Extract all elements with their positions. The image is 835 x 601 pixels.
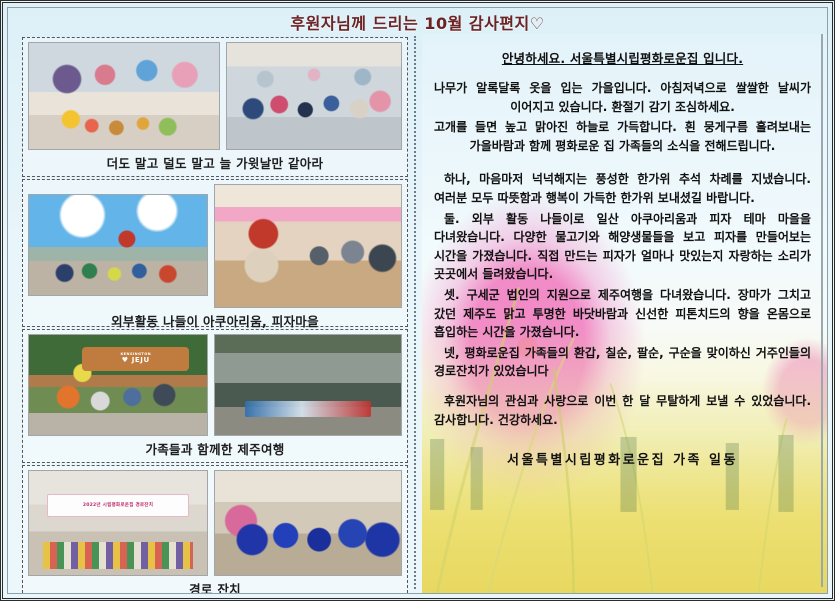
photo-row: 2022년 시립평화로운집 경로잔치 bbox=[28, 470, 402, 576]
photo-gyeongno-stage: 2022년 시립평화로운집 경로잔치 bbox=[28, 470, 208, 576]
photo-chuseok-group bbox=[226, 42, 402, 150]
body-columns: 더도 말고 덜도 말고 늘 가윗날만 같아라 외부활동 나들이 아쿠아리움, 피… bbox=[8, 34, 827, 593]
photo-caption: 더도 말고 덜도 말고 늘 가윗날만 같아라 bbox=[28, 150, 402, 174]
column-divider bbox=[414, 36, 416, 589]
photo-kensington-jeju: KENSINGTON ♥ JEJU bbox=[28, 334, 208, 436]
photo-jeju-waterfall bbox=[214, 334, 402, 436]
letter-item-2: 둘. 외부 활동 나들이로 일산 아쿠아리움과 피자 테마 마을을 다녀왔습니다… bbox=[434, 210, 811, 284]
page-inner-frame: 후원자님께 드리는 10월 감사편지♡ 더도 말고 덜도 말고 늘 가윗날만 같… bbox=[7, 7, 828, 594]
photo-gyeongno-audience bbox=[214, 470, 402, 576]
photo-image bbox=[29, 43, 219, 149]
letter-item-3: 셋. 구세군 법인의 지원으로 제주여행을 다녀왔습니다. 장마가 그치고 갔던… bbox=[434, 286, 811, 342]
letter-closing: 후원자님의 관심과 사랑으로 이번 한 달 무탈하게 보낼 수 있었습니다. 감… bbox=[434, 392, 811, 429]
letter-intro-1: 나무가 알록달록 옷을 입는 가을입니다. 아침저녁으로 쌀쌀한 날씨가 이어지… bbox=[434, 79, 811, 116]
photo-aquarium-group bbox=[28, 194, 208, 296]
letter-column: 안녕하세요. 서울특별시립평화로운집 입니다. 나무가 알록달록 옷을 입는 가… bbox=[422, 34, 827, 593]
photo-panel-outing: 외부활동 나들이 아쿠아리움, 피자마을 bbox=[22, 179, 408, 327]
letter-signature: 서울특별시립평화로운집 가족 일동 bbox=[434, 449, 811, 468]
sign-line-2: ♥ JEJU bbox=[122, 357, 150, 364]
page-title: 후원자님께 드리는 10월 감사편지♡ bbox=[290, 10, 544, 34]
photo-image bbox=[215, 471, 401, 575]
spacer bbox=[434, 157, 811, 170]
photo-sign-kensington: KENSINGTON ♥ JEJU bbox=[82, 347, 189, 371]
photo-column: 더도 말고 덜도 말고 늘 가윗날만 같아라 외부활동 나들이 아쿠아리움, 피… bbox=[8, 34, 414, 593]
photo-image bbox=[215, 335, 401, 435]
photo-caption: 경로 잔치 bbox=[28, 576, 402, 594]
letter-item-1: 하나, 마음마저 넉넉해지는 풍성한 한가위 추석 차례를 지냈습니다. 여러분… bbox=[434, 170, 811, 207]
photo-banner-text: 2022년 시립평화로운집 경로잔치 bbox=[47, 494, 189, 517]
letter-item-4: 넷, 평화로운집 가족들의 환갑, 칠순, 팔순, 구순을 맞이하신 거주인들의… bbox=[434, 344, 811, 381]
letter-text-body: 안녕하세요. 서울특별시립평화로운집 입니다. 나무가 알록달록 옷을 입는 가… bbox=[422, 34, 827, 593]
photo-panel-jeju: KENSINGTON ♥ JEJU 가족들과 함께한 제주여행 bbox=[22, 329, 408, 463]
photo-caption: 가족들과 함께한 제주여행 bbox=[28, 436, 402, 460]
photo-image bbox=[29, 471, 207, 575]
photo-row: KENSINGTON ♥ JEJU bbox=[28, 334, 402, 436]
photo-pizza-village bbox=[214, 184, 402, 308]
newsletter-page: 후원자님께 드리는 10월 감사편지♡ 더도 말고 덜도 말고 늘 가윗날만 같… bbox=[0, 0, 835, 601]
photo-image bbox=[227, 43, 401, 149]
photo-row bbox=[28, 42, 402, 150]
photo-image bbox=[29, 195, 207, 295]
photo-panel-gyeongno: 2022년 시립평화로운집 경로잔치 경로 잔치 bbox=[22, 465, 408, 594]
page-title-bar: 후원자님께 드리는 10월 감사편지♡ bbox=[8, 10, 827, 34]
photo-panel-chuseok: 더도 말고 덜도 말고 늘 가윗날만 같아라 bbox=[22, 37, 408, 177]
photo-row bbox=[28, 184, 402, 308]
spacer bbox=[434, 383, 811, 392]
photo-chuseok-ceremony bbox=[28, 42, 220, 150]
letter-background-cosmos: 안녕하세요. 서울특별시립평화로운집 입니다. 나무가 알록달록 옷을 입는 가… bbox=[422, 34, 827, 593]
photo-image bbox=[215, 185, 401, 307]
letter-greeting: 안녕하세요. 서울특별시립평화로운집 입니다. bbox=[434, 48, 811, 67]
letter-intro-2: 고개를 들면 높고 맑아진 하늘로 가득합니다. 흰 뭉게구름 흘려보내는 가을… bbox=[434, 118, 811, 155]
